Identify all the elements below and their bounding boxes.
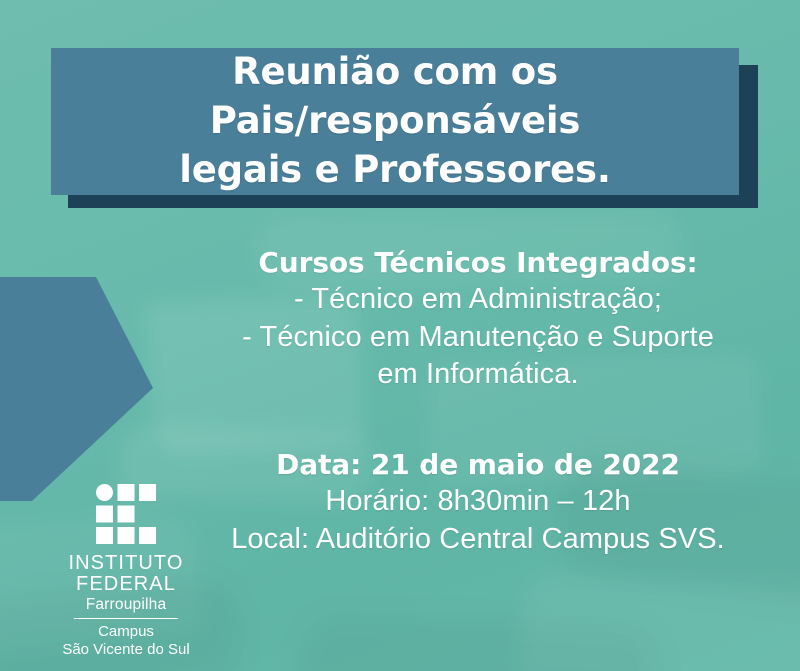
course-item-manutencao-line1: - Técnico em Manutenção e Suporte — [178, 319, 778, 356]
brush-stroke — [517, 570, 800, 671]
event-location: Local: Auditório Central Campus SVS. — [178, 521, 778, 558]
logo-campus: Campus São Vicente do Sul — [36, 623, 216, 658]
title-banner: Reunião com os Pais/responsáveis legais … — [51, 48, 739, 195]
course-item-manutencao-line2: em Informática. — [178, 356, 778, 393]
courses-section: Cursos Técnicos Integrados: - Técnico em… — [178, 245, 778, 393]
course-item-administracao: - Técnico em Administração; — [178, 281, 778, 318]
logo-farroupilha: Farroupilha — [36, 596, 216, 614]
left-chevron-icon — [0, 277, 153, 501]
instituto-federal-logo: INSTITUTO FEDERAL Farroupilha Campus São… — [36, 484, 216, 658]
event-time: Horário: 8h30min – 12h — [178, 483, 778, 520]
event-details-section: Data: 21 de maio de 2022 Horário: 8h30mi… — [178, 447, 778, 558]
page-title: Reunião com os Pais/responsáveis legais … — [51, 48, 739, 194]
logo-federal: FEDERAL — [36, 574, 216, 595]
courses-heading: Cursos Técnicos Integrados: — [178, 245, 778, 281]
logo-instituto: INSTITUTO — [36, 553, 216, 574]
poster-canvas: Reunião com os Pais/responsáveis legais … — [0, 0, 800, 671]
event-date: Data: 21 de maio de 2022 — [178, 447, 778, 483]
logo-divider — [74, 618, 178, 620]
background-shade — [299, 614, 662, 671]
instituto-federal-grid-mark-icon — [96, 484, 156, 546]
